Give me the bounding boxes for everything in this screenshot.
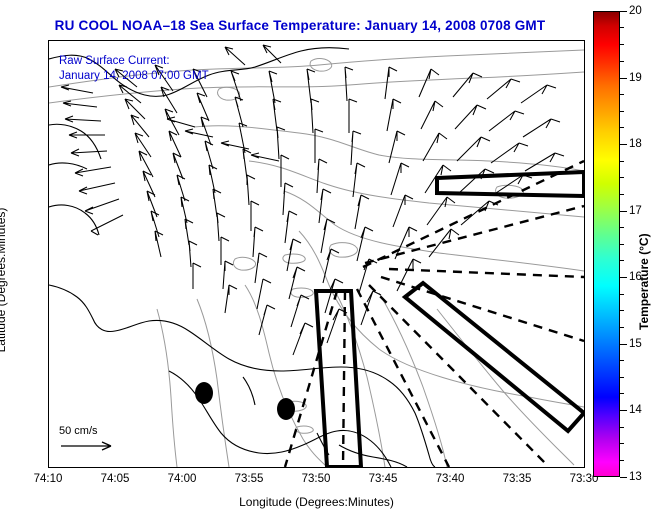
bathymetry-contours <box>49 50 584 467</box>
annotation-text-block: Raw Surface Current: January 14, 2008 07… <box>59 54 209 84</box>
colorbar-minor-tick <box>620 27 624 28</box>
colorbar-minor-tick <box>620 294 624 295</box>
xtick-label: 73:40 <box>436 473 465 485</box>
xtick-label: 73:50 <box>302 473 331 485</box>
y-axis-label: Latitude (Degrees:Minutes) <box>0 190 8 370</box>
figure-title: RU COOL NOAA–18 Sea Surface Temperature:… <box>0 18 600 33</box>
colorbar-minor-tick <box>620 227 624 228</box>
station-markers <box>195 382 295 420</box>
colorbar-tick <box>620 277 627 278</box>
colorbar-tick-label: 13 <box>629 471 642 483</box>
colorbar-tick <box>620 410 627 411</box>
colorbar-minor-tick <box>620 44 624 45</box>
map-plot-area[interactable]: Raw Surface Current: January 14, 2008 07… <box>48 40 585 468</box>
xtick-label: 74:10 <box>34 473 63 485</box>
colorbar-tick <box>620 211 627 212</box>
colorbar-minor-tick <box>620 360 624 361</box>
colorbar-minor-tick <box>620 94 624 95</box>
figure-canvas: RU COOL NOAA–18 Sea Surface Temperature:… <box>0 0 651 518</box>
colorbar-minor-tick <box>620 260 624 261</box>
xtick-label: 73:45 <box>369 473 398 485</box>
colorbar-minor-tick <box>620 194 624 195</box>
colorbar-tick-label: 20 <box>629 5 642 17</box>
colorbar-tick <box>620 78 627 79</box>
colorbar-tick-label: 14 <box>629 404 642 416</box>
colorbar-minor-tick <box>620 460 624 461</box>
right-arrow-icon <box>59 439 121 453</box>
colorbar-minor-tick <box>620 111 624 112</box>
colorbar-minor-tick <box>620 177 624 178</box>
colorbar-minor-tick <box>620 427 624 428</box>
colorbar-tick-label: 18 <box>629 138 642 150</box>
annotation-line-1: Raw Surface Current: <box>59 54 209 69</box>
annotation-line-2: January 14, 2008 07:00 GMT <box>59 69 209 84</box>
colorbar-minor-tick <box>620 310 624 311</box>
xtick-label: 74:05 <box>101 473 130 485</box>
scale-bar-label: 50 cm/s <box>59 425 121 437</box>
colorbar-minor-tick <box>620 161 624 162</box>
colorbar-tick <box>620 344 627 345</box>
scale-bar-legend: 50 cm/s <box>59 425 121 456</box>
colorbar-minor-tick <box>620 61 624 62</box>
colorbar-title: Temperature (°C) <box>637 170 651 330</box>
map-graphics <box>49 41 584 467</box>
colorbar-minor-tick <box>620 327 624 328</box>
station-marker <box>195 382 213 404</box>
x-axis-label: Longitude (Degrees:Minutes) <box>48 495 585 509</box>
colorbar[interactable] <box>593 11 620 477</box>
colorbar-tick-label: 19 <box>629 72 642 84</box>
colorbar-minor-tick <box>620 393 624 394</box>
station-marker <box>277 398 295 420</box>
xtick-label: 74:00 <box>168 473 197 485</box>
colorbar-minor-tick <box>620 377 624 378</box>
colorbar-minor-tick <box>620 244 624 245</box>
colorbar-tick <box>620 144 627 145</box>
colorbar-tick-label: 15 <box>629 338 642 350</box>
colorbar-minor-tick <box>620 443 624 444</box>
colorbar-minor-tick <box>620 127 624 128</box>
colorbar-tick <box>620 11 627 12</box>
xtick-label: 73:55 <box>235 473 264 485</box>
xtick-label: 73:35 <box>503 473 532 485</box>
colorbar-tick <box>620 477 627 478</box>
